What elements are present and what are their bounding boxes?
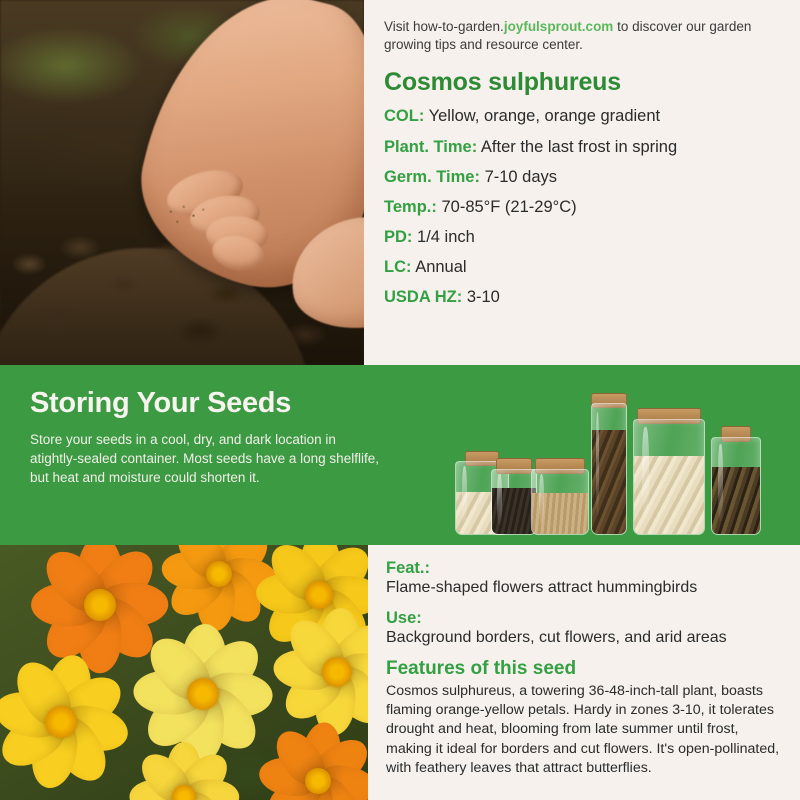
visit-prefix: Visit how-to-garden. (384, 19, 504, 34)
spec-label: Temp.: (384, 198, 437, 216)
glass-body (711, 437, 761, 535)
feat-label: Feat.: (386, 559, 784, 578)
spec-row-plant-time: Plant. Time: After the last frost in spr… (384, 138, 800, 156)
spec-value: Yellow, orange, orange gradient (429, 107, 660, 125)
spec-value: After the last frost in spring (481, 138, 677, 156)
storing-body: Store your seeds in a cool, dry, and dar… (30, 430, 380, 487)
glass-highlight (539, 474, 545, 525)
species-info-panel: Visit how-to-garden.joyfulsprout.com to … (364, 0, 800, 365)
use-value: Background borders, cut flowers, and ari… (386, 628, 784, 647)
spec-label: COL: (384, 107, 424, 125)
spec-row-lc: LC: Annual (384, 258, 800, 276)
species-name: Cosmos sulphureus (384, 68, 800, 97)
features-panel: Feat.: Flame-shaped flowers attract humm… (368, 545, 800, 800)
seed-jar (711, 437, 761, 535)
storing-title: Storing Your Seeds (30, 387, 380, 420)
spec-value: 3-10 (467, 288, 500, 306)
spec-row-usda-hz: USDA HZ: 3-10 (384, 288, 800, 306)
website-link[interactable]: joyfulsprout.com (504, 19, 614, 34)
visit-line: Visit how-to-garden.joyfulsprout.com to … (384, 18, 764, 54)
flower-center (45, 706, 77, 738)
glass-highlight (642, 427, 649, 518)
storing-seeds-band: Storing Your Seeds Store your seeds in a… (0, 365, 800, 545)
spec-value: Annual (415, 258, 466, 276)
top-section: Visit how-to-garden.joyfulsprout.com to … (0, 0, 800, 365)
features-heading: Features of this seed (386, 658, 784, 681)
spec-label: Germ. Time: (384, 168, 480, 186)
spec-value: 70-85°F (21-29°C) (441, 198, 576, 216)
flower-center (322, 657, 352, 687)
glass-highlight (497, 474, 501, 525)
spec-row-germ-time: Germ. Time: 7-10 days (384, 168, 800, 186)
flower-center (206, 561, 232, 587)
flower-center (84, 589, 116, 621)
soil-photo (0, 0, 364, 365)
seed-jars-photo (455, 375, 795, 535)
glass-body (591, 403, 627, 535)
seed-jar (633, 419, 705, 535)
cosmos-flowers-photo (0, 545, 368, 800)
seed-jar (591, 403, 627, 535)
use-label: Use: (386, 609, 784, 628)
flower-center (187, 678, 219, 710)
features-body: Cosmos sulphureus, a towering 36-48-inch… (386, 682, 784, 778)
glass-highlight (718, 444, 723, 521)
glass-body (531, 469, 589, 535)
bottom-section: Feat.: Flame-shaped flowers attract humm… (0, 545, 800, 800)
spec-row-pd: PD: 1/4 inch (384, 228, 800, 246)
spec-row-temp: Temp.: 70-85°F (21-29°C) (384, 198, 800, 216)
seeds-in-hand (160, 198, 214, 232)
spec-value: 7-10 days (485, 168, 557, 186)
spec-row-col: COL: Yellow, orange, orange gradient (384, 107, 800, 125)
spec-label: PD: (384, 228, 412, 246)
flower-center (305, 768, 331, 794)
spec-label: USDA HZ: (384, 288, 462, 306)
spec-label: LC: (384, 258, 412, 276)
spec-label: Plant. Time: (384, 138, 477, 156)
glass-body (633, 419, 705, 535)
flower-center (305, 581, 333, 609)
storing-text-block: Storing Your Seeds Store your seeds in a… (30, 387, 380, 487)
seed-packet-infographic: Visit how-to-garden.joyfulsprout.com to … (0, 0, 800, 800)
seed-jar (531, 469, 589, 535)
spec-value: 1/4 inch (417, 228, 475, 246)
feat-value: Flame-shaped flowers attract hummingbird… (386, 578, 784, 597)
